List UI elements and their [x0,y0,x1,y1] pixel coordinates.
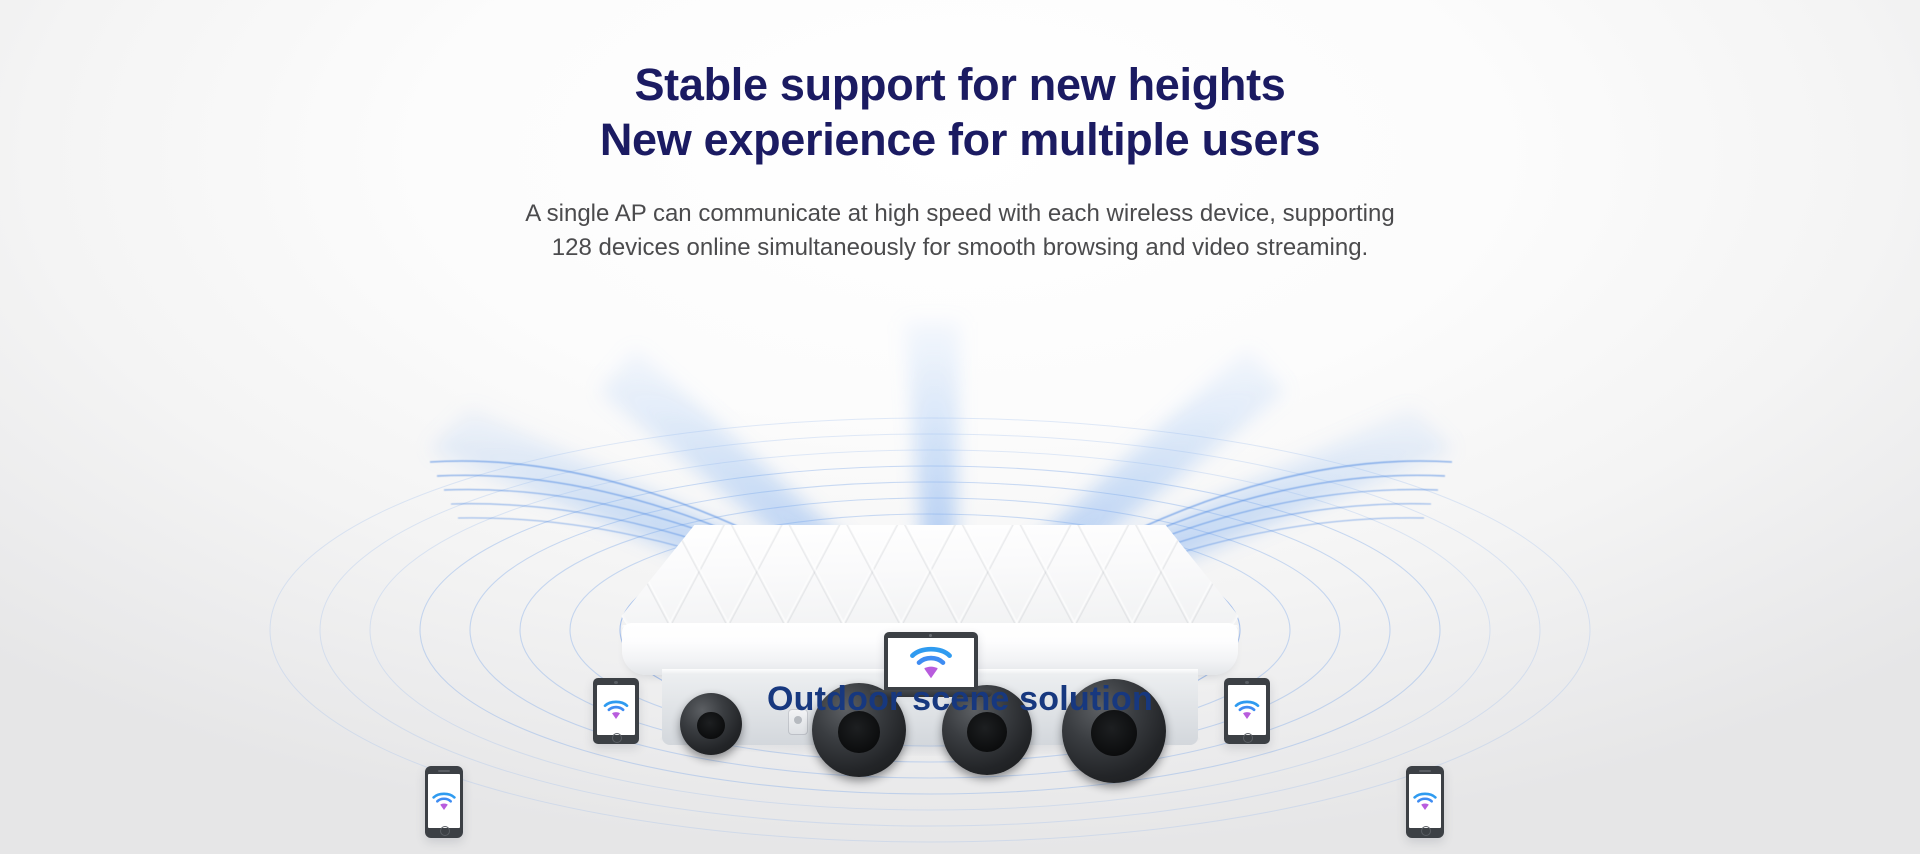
caption-layer: Outdoor scene solution [0,300,1920,854]
subtitle-line-2: 128 devices online simultaneously for sm… [0,231,1920,265]
scene-caption: Outdoor scene solution [0,680,1920,719]
headline-line-2: New experience for multiple users [0,113,1920,168]
page-title: Stable support for new heights New exper… [0,58,1920,168]
subtitle-line-1: A single AP can communicate at high spee… [0,197,1920,231]
headline-line-1: Stable support for new heights [0,58,1920,113]
coverage-illustration: Outdoor scene solution [0,300,1920,854]
page-subtitle: A single AP can communicate at high spee… [0,197,1920,265]
promo-banner: Stable support for new heights New exper… [0,0,1920,854]
